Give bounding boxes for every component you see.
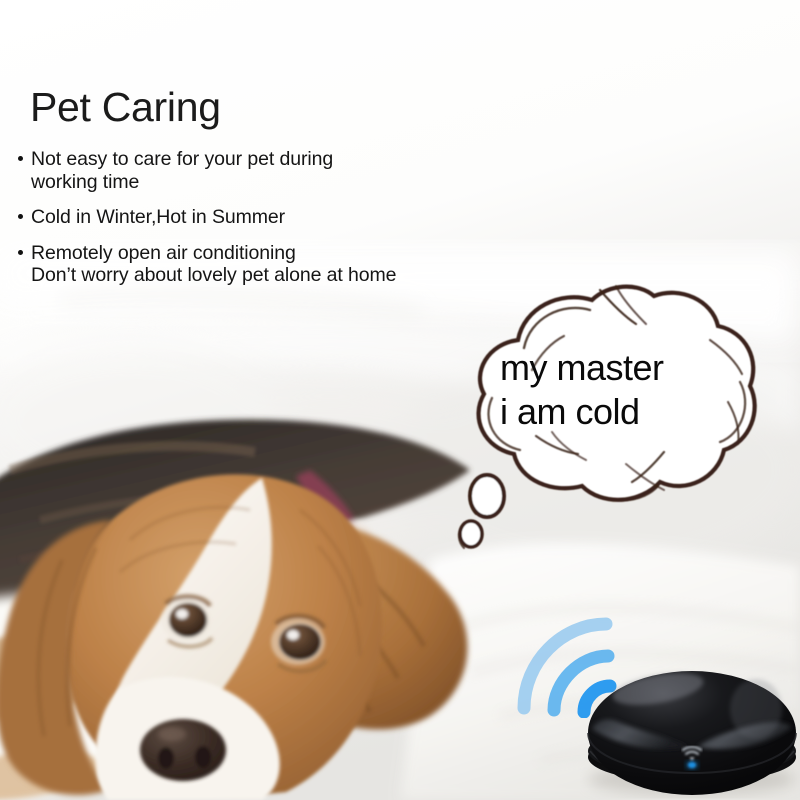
feature-bullet-list: Not easy to care for your pet during wor…	[16, 148, 486, 300]
status-led	[685, 760, 699, 770]
bullet-line-2: working time	[31, 171, 486, 194]
list-item: Not easy to care for your pet during wor…	[16, 148, 486, 193]
thought-line-1: my master	[500, 346, 750, 390]
bullet-line-1: Not easy to care for your pet during	[31, 148, 333, 170]
list-item: Cold in Winter,Hot in Summer	[16, 206, 486, 229]
bullet-line-2: Don’t worry about lovely pet alone at ho…	[31, 264, 486, 287]
smart-ir-remote-hub	[580, 655, 800, 800]
list-item: Remotely open air conditioning Don’t wor…	[16, 242, 486, 287]
bullet-dot-icon	[18, 250, 23, 255]
bullet-dot-icon	[18, 156, 23, 161]
trailing-bubbles	[459, 475, 504, 548]
thought-line-2: i am cold	[500, 390, 750, 434]
bullet-line-1: Remotely open air conditioning	[31, 242, 296, 264]
bullet-line-1: Cold in Winter,Hot in Summer	[31, 206, 285, 228]
page-title: Pet Caring	[30, 87, 221, 128]
pet-caring-promo-page: Pet Caring Not easy to care for your pet…	[0, 0, 800, 800]
thought-bubble-text: my master i am cold	[500, 346, 750, 434]
bullet-dot-icon	[18, 214, 23, 219]
thought-bubble: my master i am cold	[440, 278, 780, 563]
